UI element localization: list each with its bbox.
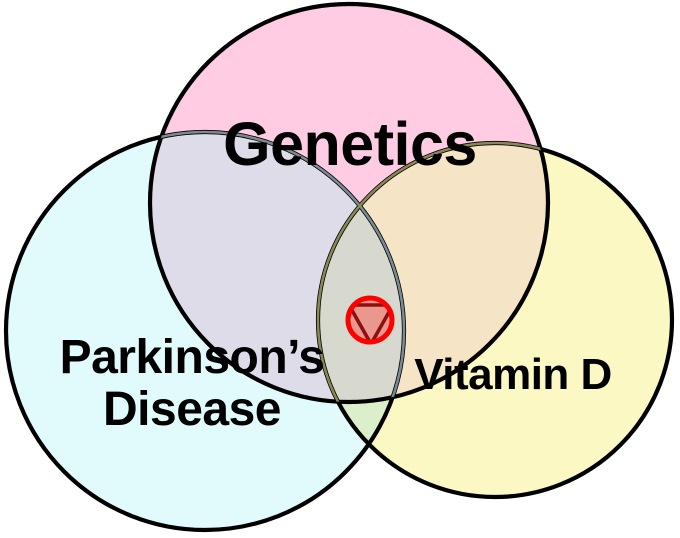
center-intersection-highlight[interactable]: [348, 298, 393, 344]
venn-diagram: Genetics Parkinson’s Disease Vitamin D: [0, 0, 680, 538]
venn-circles-svg: [0, 0, 680, 538]
